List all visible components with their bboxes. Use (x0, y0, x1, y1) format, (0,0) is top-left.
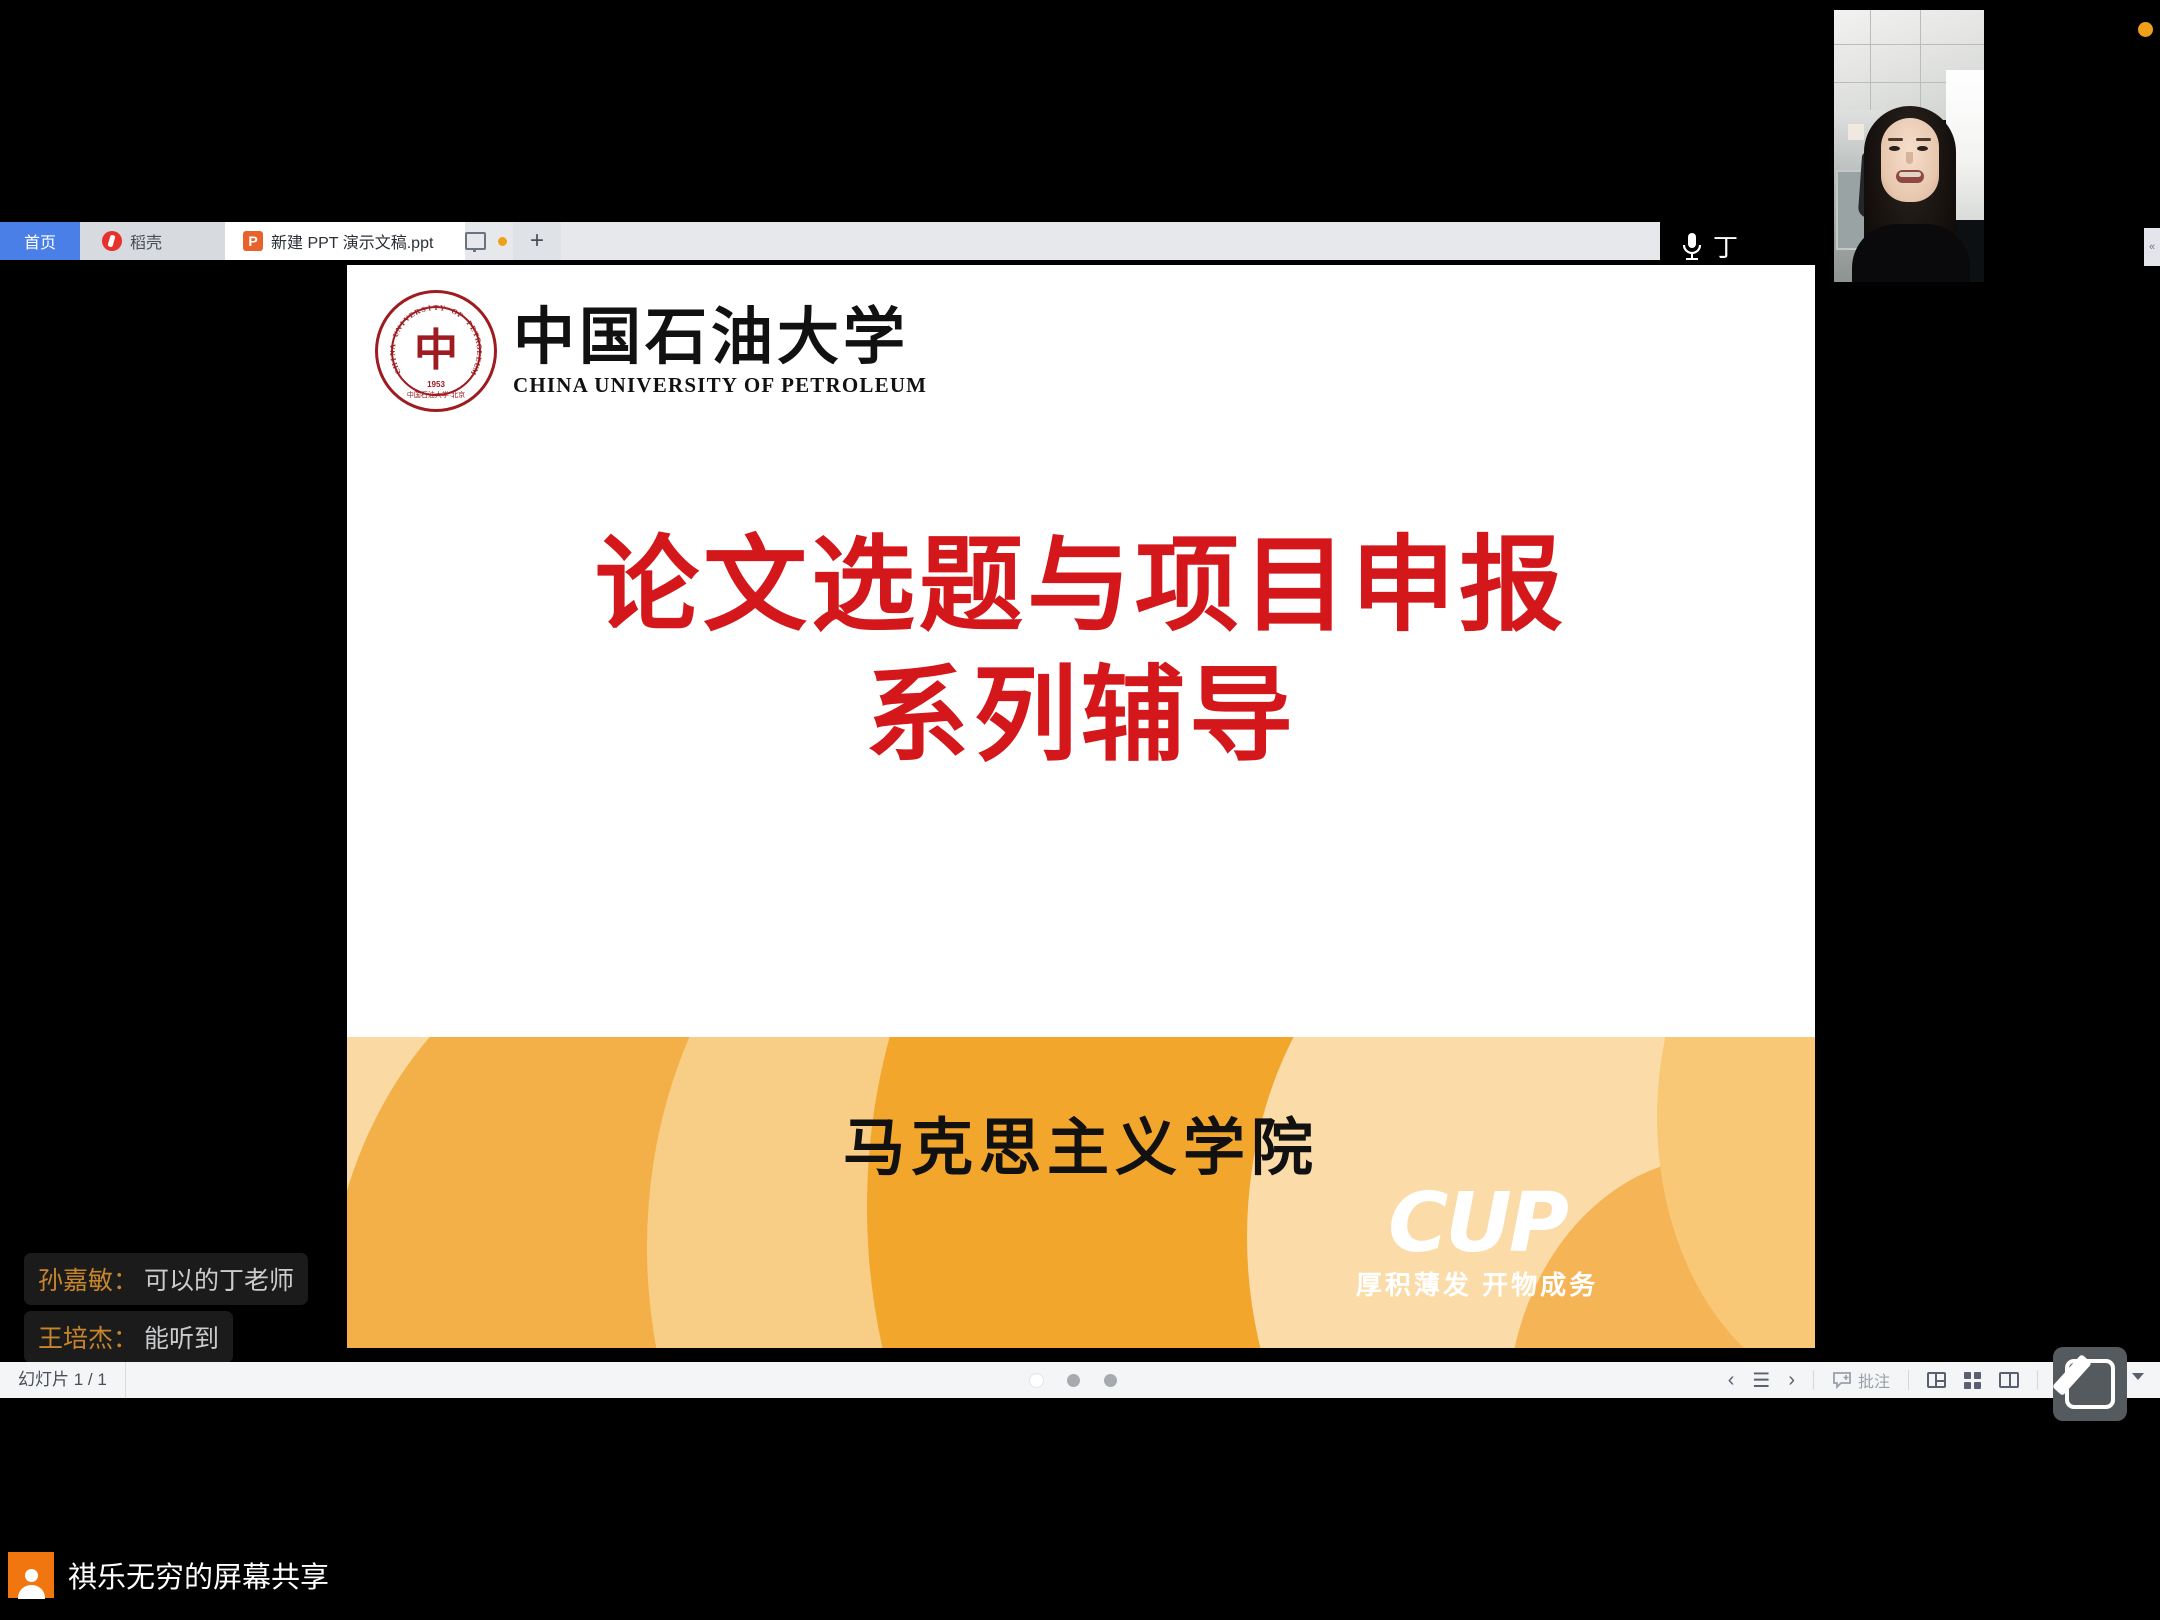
screen-share-label: 祺乐无穷的屏幕共享 (68, 1554, 329, 1596)
comment-add-icon (1832, 1371, 1852, 1389)
crest-monogram: 中 (414, 314, 458, 378)
ceiling-grid-line (1870, 10, 1871, 120)
docer-logo-icon (102, 231, 122, 251)
collapse-chevron-icon: « (2144, 228, 2160, 266)
slide-canvas[interactable]: CHINA UNIVERSITY OF PETROLEUM 中 1953 中国石… (347, 265, 1815, 1348)
unsaved-dot-icon (498, 237, 507, 246)
chat-message: 孙嘉敏： 可以的丁老师 (24, 1253, 308, 1305)
screen-share-footer: 祺乐无穷的屏幕共享 (0, 1530, 2160, 1620)
cup-logo: CUP 厚积薄发 开物成务 (1347, 1185, 1607, 1302)
pen-annotate-button[interactable] (2053, 1347, 2127, 1421)
tab-document-label: 新建 PPT 演示文稿.ppt (271, 229, 433, 253)
university-name-en: CHINA UNIVERSITY OF PETROLEUM (513, 373, 927, 398)
eye-left (1889, 146, 1900, 151)
pen-annotate-icon (2065, 1359, 2115, 1409)
slide-list-icon[interactable]: ☰ (1752, 1368, 1770, 1393)
chat-author: 王培杰： (38, 1319, 138, 1355)
eyebrow-left (1888, 138, 1903, 141)
slide-progress-dots (1030, 1362, 1117, 1398)
eyebrow-right (1916, 138, 1931, 141)
normal-view-icon[interactable] (1927, 1372, 1946, 1388)
chat-text: 可以的丁老师 (144, 1261, 294, 1297)
cup-motto: 厚积薄发 开物成务 (1347, 1265, 1607, 1302)
slide-sorter-icon[interactable] (1964, 1372, 1981, 1389)
pen-stroke (2052, 1354, 2092, 1396)
tab-presentation-document[interactable]: P 新建 PPT 演示文稿.ppt (225, 222, 465, 260)
new-tab-label: + (530, 227, 544, 255)
chevron-down-icon[interactable] (2132, 1373, 2144, 1380)
crest-cn-text: 中国石油大学·北京 (407, 390, 465, 400)
microphone-icon (1680, 230, 1704, 262)
tab-home[interactable]: 首页 (0, 222, 80, 260)
chat-message: 王培杰： 能听到 (24, 1311, 233, 1363)
reading-view-icon[interactable] (1999, 1372, 2019, 1388)
slide-title-line1: 论文选题与项目申报 (347, 520, 1815, 650)
collapse-panel-handle[interactable]: « (2144, 228, 2160, 266)
divider (1908, 1370, 1909, 1390)
progress-dot-active[interactable] (1030, 1374, 1043, 1387)
crest-year: 1953 (427, 380, 445, 389)
comment-label: 批注 (1858, 1368, 1890, 1392)
comment-add-button[interactable]: 批注 (1832, 1368, 1890, 1392)
ceiling-grid-line (1920, 10, 1921, 120)
progress-dot[interactable] (1104, 1374, 1117, 1387)
active-speaker-label: 丁 (1672, 222, 1754, 270)
slide-title-line2: 系列辅导 (347, 650, 1815, 780)
new-tab-button[interactable]: + (513, 222, 561, 260)
ppt-file-icon: P (243, 231, 263, 251)
slide-subtitle-department: 马克思主义学院 (347, 1097, 1815, 1187)
webcam-video-tile[interactable] (1834, 10, 1984, 282)
person-torso (1852, 224, 1970, 282)
person-avatar-icon (8, 1552, 54, 1598)
wps-tab-bar: 首页 稻壳 P 新建 PPT 演示文稿.ppt + (0, 222, 1660, 260)
chat-author: 孙嘉敏： (38, 1261, 138, 1297)
wps-status-bar: 幻灯片 1 / 1 ‹ ☰ › 批注 (0, 1362, 2160, 1398)
slide-footer-band: 马克思主义学院 CUP 厚积薄发 开物成务 (347, 1037, 1815, 1348)
tab-docer[interactable]: 稻壳 (80, 222, 225, 260)
slide-counter: 幻灯片 1 / 1 (0, 1362, 126, 1398)
speaker-name: 丁 (1713, 228, 1738, 264)
university-wordmark: 中国石油大学 CHINA UNIVERSITY OF PETROLEUM (513, 304, 927, 398)
recording-indicator-icon (2138, 22, 2153, 37)
monitor-icon[interactable] (465, 232, 486, 250)
eye-right (1917, 146, 1928, 151)
chat-text: 能听到 (144, 1319, 219, 1355)
teeth (1899, 172, 1921, 177)
divider (1813, 1370, 1814, 1390)
progress-dot[interactable] (1067, 1374, 1080, 1387)
mouth (1896, 170, 1924, 183)
tab-docer-label: 稻壳 (130, 229, 162, 253)
ceiling-grid-line (1834, 44, 1984, 45)
nose (1906, 152, 1913, 164)
slide-title: 论文选题与项目申报 系列辅导 (347, 520, 1815, 780)
tab-home-label: 首页 (24, 229, 56, 253)
chevron-left-icon[interactable]: ‹ (1728, 1369, 1735, 1392)
wall-note (1848, 124, 1864, 140)
university-crest-icon: CHINA UNIVERSITY OF PETROLEUM 中 1953 中国石… (375, 290, 497, 412)
university-name-cn: 中国石油大学 (513, 304, 927, 369)
cup-wordmark: CUP (1347, 1185, 1607, 1263)
divider (2037, 1370, 2038, 1390)
chevron-right-icon[interactable]: › (1788, 1369, 1795, 1392)
university-logo: CHINA UNIVERSITY OF PETROLEUM 中 1953 中国石… (375, 290, 927, 412)
